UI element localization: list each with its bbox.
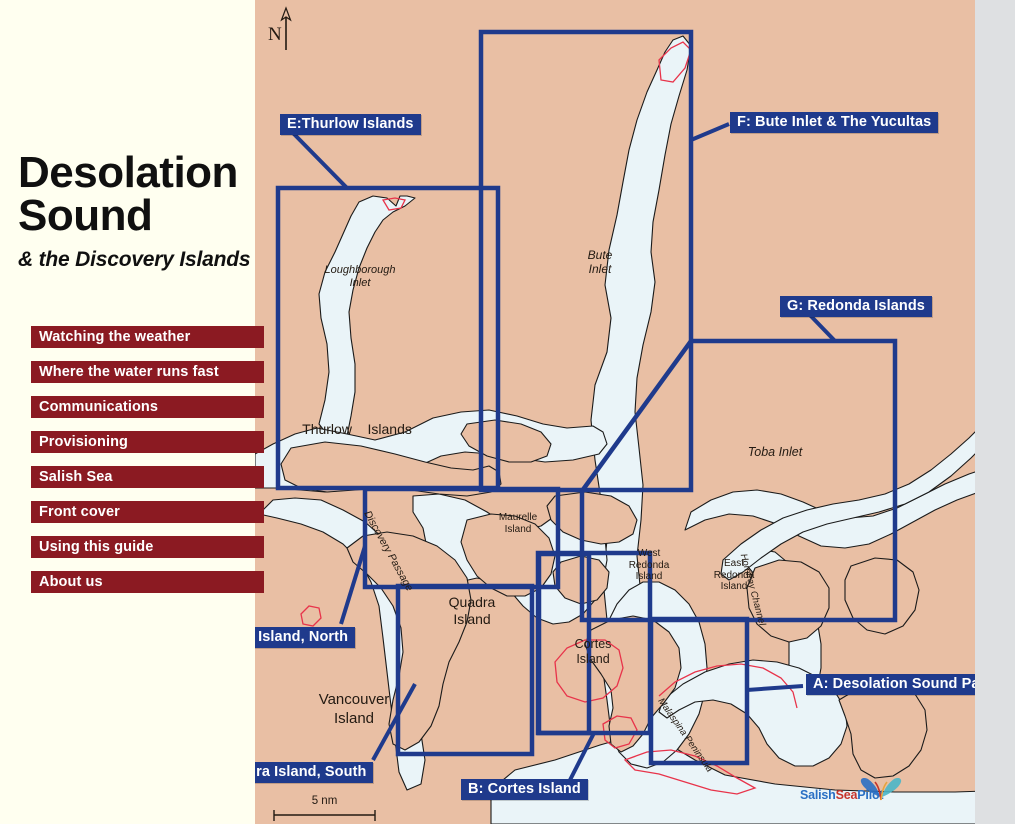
sidebar-item-using-this-guide[interactable]: Using this guide [31, 536, 264, 558]
chart-callout-B[interactable]: B: Cortes Island [461, 779, 588, 800]
chart-box-A [651, 619, 747, 763]
title-block: Desolation Sound & the Discovery Islands [18, 152, 258, 272]
sidebar-menu: Watching the weather Where the water run… [31, 326, 264, 606]
leader-D [341, 546, 365, 624]
chart-box-F [481, 32, 691, 490]
chart-box-B-rect [538, 553, 650, 733]
sidebar-item-communications[interactable]: Communications [31, 396, 264, 418]
chart-callout-A[interactable]: A: Desolation Sound Park [806, 674, 1000, 695]
north-arrow: N [268, 6, 298, 52]
sidebar-item-watching-the-weather[interactable]: Watching the weather [31, 326, 264, 348]
chart-box-D [365, 489, 558, 587]
sidebar-item-about-us[interactable]: About us [31, 571, 264, 593]
sidebar-item-front-cover[interactable]: Front cover [31, 501, 264, 523]
logo-text-sea: Sea [836, 788, 858, 802]
leader-B [570, 733, 594, 780]
leader-F [691, 124, 729, 140]
page-title-line2: Sound [18, 195, 258, 238]
sidebar-item-where-the-water-runs-fast[interactable]: Where the water runs fast [31, 361, 264, 383]
index-map-page: .wtr{fill:#eaf4f8;stroke:#1a1a1a;stroke-… [0, 0, 1015, 824]
leader-C [373, 684, 415, 760]
chart-box-E [278, 188, 498, 488]
leader-E [293, 133, 347, 188]
whale-tail-icon [858, 776, 904, 802]
leader-A [747, 686, 803, 690]
sidebar-item-salish-sea[interactable]: Salish Sea [31, 466, 264, 488]
logo-text-salish: Salish [800, 788, 836, 802]
sidebar: Desolation Sound & the Discovery Islands… [0, 0, 255, 824]
right-margin-strip [975, 0, 1015, 824]
scale-bar-label: 5 nm [272, 795, 377, 807]
scale-bar: 5 nm [272, 796, 377, 820]
chart-callout-F[interactable]: F: Bute Inlet & The Yucultas [730, 112, 938, 133]
chart-box-G [582, 341, 895, 620]
chart-callout-E[interactable]: E:Thurlow Islands [280, 114, 421, 135]
sidebar-item-provisioning[interactable]: Provisioning [31, 431, 264, 453]
chart-callout-G[interactable]: G: Redonda Islands [780, 296, 932, 317]
compass-north-label: N [268, 24, 282, 46]
chart-box-C [398, 586, 532, 754]
page-subtitle: & the Discovery Islands [18, 248, 258, 272]
page-title-line1: Desolation [18, 152, 258, 195]
salish-sea-pilot-logo[interactable]: SalishSeaPilot [800, 786, 883, 816]
page-title: Desolation Sound [18, 152, 258, 237]
